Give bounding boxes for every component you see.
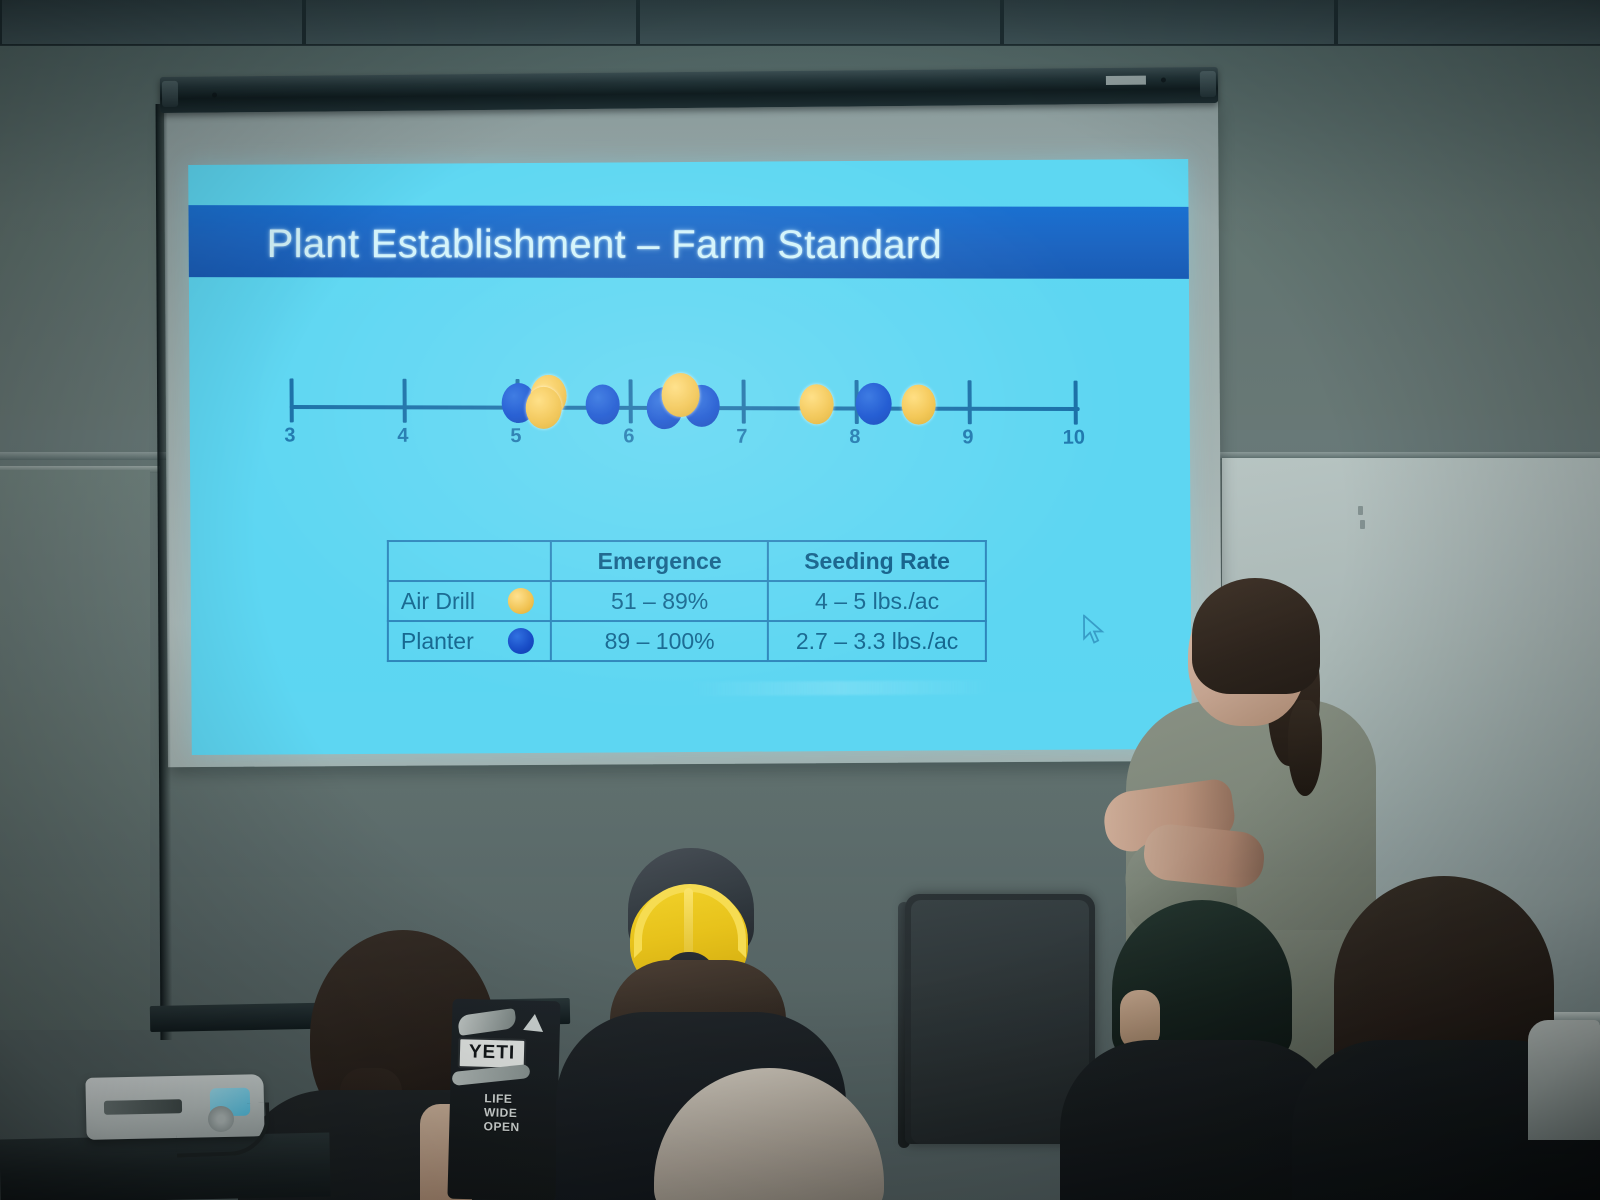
background-object	[1528, 1020, 1600, 1140]
ceiling-panel	[304, 0, 638, 46]
wall-panel-left	[0, 470, 150, 1030]
dot-plot-number-line: 3 4 5 6 7 8 9 10	[189, 349, 1190, 465]
axis-label-7: 7	[722, 426, 762, 449]
screenshot-root: Plant Establishment – Farm Standard 3 4 …	[0, 0, 1600, 1200]
table-row: Air Drill 51 – 89% 4 – 5 lbs./ac	[388, 581, 986, 621]
roller-screw	[212, 93, 217, 98]
axis-tick-4	[403, 379, 407, 423]
data-point-airdrill	[661, 373, 699, 417]
axis-tick-10	[1074, 381, 1078, 425]
table-row: Planter 89 – 100% 2.7 – 3.3 lbs./ac	[388, 621, 986, 661]
data-point-airdrill	[526, 387, 562, 429]
axis-label-10: 10	[1054, 427, 1094, 450]
roller-end-cap	[162, 81, 178, 107]
table-cell-name: Air Drill	[388, 581, 551, 621]
front-table	[0, 1133, 331, 1200]
yellow-circle-icon	[508, 588, 534, 614]
axis-label-5: 5	[496, 425, 536, 448]
axis-label-9: 9	[948, 426, 988, 449]
table-header-seeding: Seeding Rate	[768, 541, 986, 581]
data-point-planter	[856, 383, 892, 425]
axis-label-8: 8	[835, 426, 875, 449]
axis-tick-6	[629, 379, 633, 423]
mouse-pointer-icon	[1081, 614, 1107, 644]
data-point-planter	[586, 384, 620, 424]
whiteboard-mark	[1360, 520, 1365, 529]
table-cell-name: Planter	[388, 621, 551, 661]
axis-label-3: 3	[270, 424, 310, 447]
presenter-ponytail	[1288, 700, 1322, 796]
table-cell-emergence: 89 – 100%	[551, 621, 768, 661]
table-cell-name-label: Planter	[401, 628, 474, 654]
axis-tick-7	[742, 380, 746, 424]
whiteboard-mark	[1358, 506, 1363, 515]
sticker-tagline: LIFEWIDEOPEN	[483, 1091, 540, 1134]
ceiling-panel	[638, 0, 1002, 46]
roller-screw	[1161, 77, 1166, 82]
projected-slide: Plant Establishment – Farm Standard 3 4 …	[188, 159, 1192, 755]
slide-data-table: Emergence Seeding Rate Air Drill 51 – 89…	[387, 540, 987, 662]
axis-tick-9	[968, 380, 972, 424]
table-header-emergence: Emergence	[551, 541, 768, 581]
roller-end-cap	[1200, 71, 1216, 97]
roller-label	[1106, 76, 1146, 85]
axis-label-4: 4	[383, 425, 423, 448]
data-point-airdrill	[800, 384, 834, 424]
ceiling-panel	[1002, 0, 1336, 46]
ceiling-panel	[1336, 0, 1600, 46]
axis-label-6: 6	[609, 425, 649, 448]
presenter-hair	[1192, 578, 1320, 694]
data-point-airdrill	[902, 384, 936, 424]
table-cell-seeding-rate: 4 – 5 lbs./ac	[768, 581, 986, 621]
table-cell-emergence: 51 – 89%	[551, 581, 768, 621]
table-header-blank	[388, 541, 551, 581]
slide-faint-reflection	[691, 680, 991, 696]
sticker-triangle-icon	[523, 1013, 545, 1032]
table-cell-seeding-rate: 2.7 – 3.3 lbs./ac	[768, 621, 986, 661]
slide-title: Plant Establishment – Farm Standard	[267, 213, 1167, 277]
projector-ports	[104, 1099, 182, 1115]
table-header-row: Emergence Seeding Rate	[388, 541, 986, 581]
table-cell-name-label: Air Drill	[401, 588, 475, 614]
blue-circle-icon	[508, 628, 534, 654]
axis-tick-3	[290, 378, 294, 422]
ceiling-panel	[0, 0, 304, 46]
